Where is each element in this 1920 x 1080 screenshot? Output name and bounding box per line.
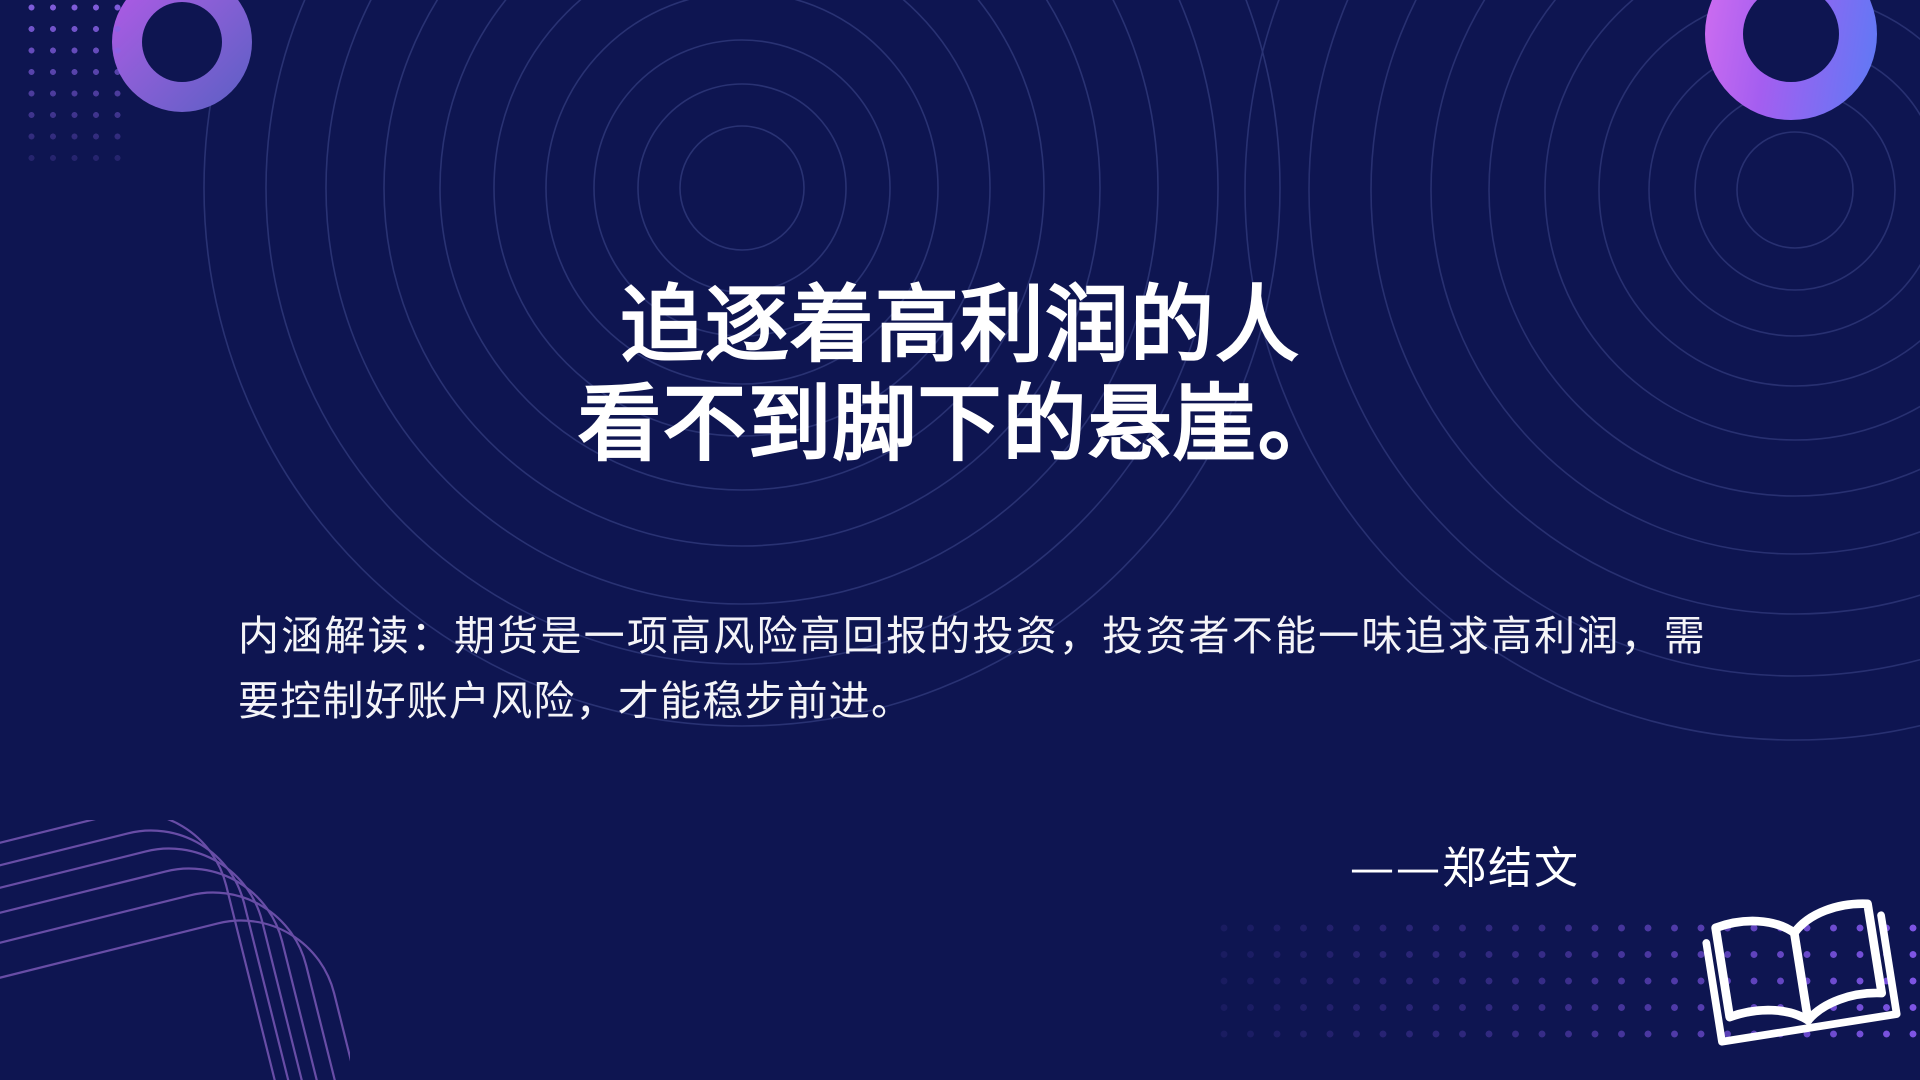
slide-content: 追逐着高利润的人 看不到脚下的悬崖。 内涵解读：期货是一项高风险高回报的投资，投… xyxy=(0,0,1920,1080)
attribution-author: ——郑结文 xyxy=(1350,832,1580,896)
quote-title: 追逐着高利润的人 看不到脚下的悬崖。 xyxy=(0,276,1920,474)
quote-slide: 追逐着高利润的人 看不到脚下的悬崖。 内涵解读：期货是一项高风险高回报的投资，投… xyxy=(0,0,1920,1080)
interpretation-paragraph: 内涵解读：期货是一项高风险高回报的投资，投资者不能一味追求高利润，需要控制好账户… xyxy=(238,604,1706,734)
